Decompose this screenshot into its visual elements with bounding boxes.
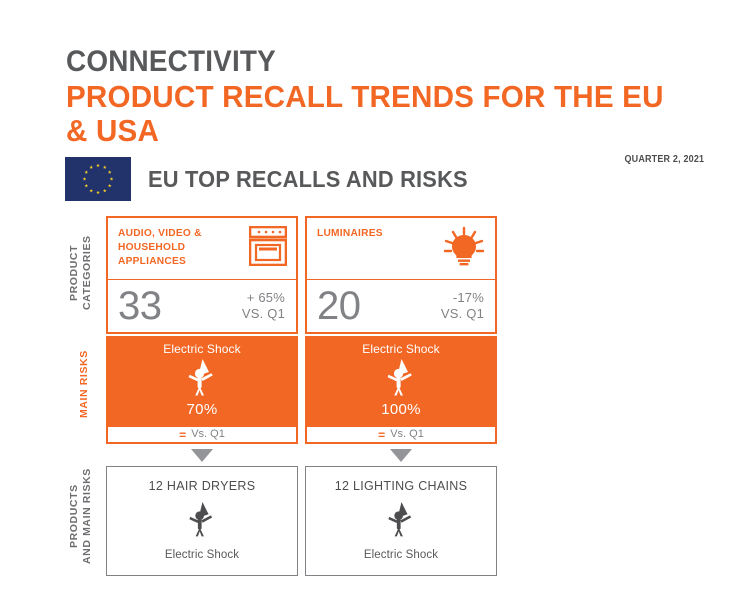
trend-equal-icon: =	[378, 429, 385, 441]
infographic-page: CONNECTIVITY PRODUCT RECALL TRENDS FOR T…	[0, 0, 749, 609]
trend-period: Vs. Q1	[191, 429, 225, 440]
electric-shock-icon	[185, 358, 219, 401]
category-delta: -17% VS. Q1	[441, 290, 484, 322]
product-title: 12 HAIR DRYERS	[149, 480, 256, 493]
eu-star-icon	[108, 184, 112, 188]
category-card[interactable]: LUMINAIRES	[305, 216, 497, 334]
triangle-down-icon	[390, 449, 412, 462]
electric-shock-icon	[385, 501, 417, 542]
category-header: AUDIO, VIDEO & HOUSEHOLD APPLIANCES	[108, 218, 296, 280]
category-delta-value: + 65%	[242, 290, 285, 306]
eu-star-icon	[84, 184, 88, 188]
eu-flag-icon	[65, 157, 131, 201]
axis-label-main-risks: MAIN RISKS	[78, 333, 98, 435]
axis-label-product-categories: PRODUCT CATEGORIES	[68, 216, 100, 330]
main-risk-name: Electric Shock	[163, 342, 240, 356]
main-risk-name: Electric Shock	[362, 342, 439, 356]
eu-star-icon	[89, 165, 93, 169]
section-header: EU TOP RECALLS AND RISKS	[65, 157, 485, 201]
category-header: LUMINAIRES	[307, 218, 495, 280]
eu-star-icon	[84, 170, 88, 174]
triangle-down-icon	[191, 449, 213, 462]
header: CONNECTIVITY PRODUCT RECALL TRENDS FOR T…	[66, 46, 706, 165]
eu-star-icon	[89, 189, 93, 193]
main-risk-trend: = Vs. Q1	[106, 425, 298, 444]
eu-star-icon	[103, 165, 107, 169]
eu-star-icon	[110, 177, 114, 181]
category-count-row: 20 -17% VS. Q1	[307, 280, 495, 332]
category-delta: + 65% VS. Q1	[242, 290, 285, 322]
category-delta-value: -17%	[441, 290, 484, 306]
main-risk-panel[interactable]: Electric Shock 100%	[305, 336, 497, 425]
product-risk: Electric Shock	[364, 550, 438, 562]
category-name: LUMINAIRES	[317, 227, 383, 241]
oven-icon	[249, 226, 287, 271]
eu-star-icon	[108, 170, 112, 174]
product-title: 12 LIGHTING CHAINS	[335, 480, 468, 493]
main-risk-percent: 70%	[187, 402, 218, 419]
section-title: EU TOP RECALLS AND RISKS	[148, 166, 468, 193]
axis-label-products-and-main-risks: PRODUCTS AND MAIN RISKS	[68, 455, 100, 578]
category-count-row: 33 + 65% VS. Q1	[108, 280, 296, 332]
main-risk-percent: 100%	[381, 402, 421, 419]
product-box[interactable]: 12 LIGHTING CHAINS Electric Shock	[305, 466, 497, 576]
eu-star-icon	[96, 191, 100, 195]
category-card[interactable]: AUDIO, VIDEO & HOUSEHOLD APPLIANCES	[106, 216, 298, 334]
trend-period: Vs. Q1	[390, 429, 424, 440]
category-column: AUDIO, VIDEO & HOUSEHOLD APPLIANCES	[106, 216, 298, 576]
product-risk: Electric Shock	[165, 550, 239, 562]
connector-arrow	[305, 444, 497, 466]
electric-shock-icon	[186, 501, 218, 542]
main-risk-trend: = Vs. Q1	[305, 425, 497, 444]
eu-star-icon	[103, 189, 107, 193]
page-title-line1: CONNECTIVITY	[66, 46, 661, 78]
category-count: 33	[118, 286, 162, 326]
eu-star-icon	[96, 164, 100, 168]
eu-star-icon	[83, 177, 87, 181]
category-delta-period: VS. Q1	[441, 306, 484, 322]
category-name: AUDIO, VIDEO & HOUSEHOLD APPLIANCES	[118, 227, 202, 269]
electric-shock-icon	[384, 358, 418, 401]
category-column: LUMINAIRES	[305, 216, 497, 576]
trend-equal-icon: =	[179, 429, 186, 441]
category-count: 20	[317, 286, 361, 326]
light-bulb-icon	[442, 226, 486, 273]
product-box[interactable]: 12 HAIR DRYERS Electric Shock	[106, 466, 298, 576]
page-title-line2: PRODUCT RECALL TRENDS FOR THE EU & USA	[66, 80, 677, 148]
main-risk-panel[interactable]: Electric Shock 70%	[106, 336, 298, 425]
connector-arrow	[106, 444, 298, 466]
category-delta-period: VS. Q1	[242, 306, 285, 322]
